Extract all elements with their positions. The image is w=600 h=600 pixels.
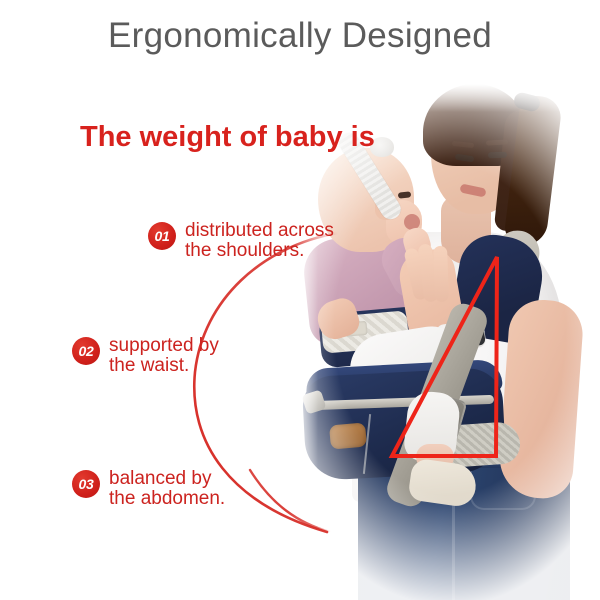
callout-01-text: distributed across the shoulders.: [185, 221, 334, 261]
mother-right-arm: [497, 298, 585, 501]
callout-03-number-badge: 03: [72, 470, 100, 498]
product-infographic-page: Ergonomically Designed The weight of bab…: [0, 0, 600, 600]
page-title: Ergonomically Designed: [0, 14, 600, 58]
product-photo: [0, 0, 600, 600]
callout-02-number-badge: 02: [72, 337, 100, 365]
callout-03-text: balanced by the abdomen.: [109, 469, 225, 509]
mother-eye-right: [488, 152, 507, 159]
mother-finger-3: [433, 246, 449, 302]
carrier-leather-logo-patch: [329, 422, 367, 449]
callout-02-text: supported by the waist.: [109, 336, 219, 376]
callout-01-number-badge: 01: [148, 222, 176, 250]
callout-01: 01 distributed across the shoulders.: [148, 222, 334, 261]
callout-03: 03 balanced by the abdomen.: [72, 470, 225, 509]
callout-02: 02 supported by the waist.: [72, 337, 219, 376]
page-subtitle: The weight of baby is: [80, 119, 375, 155]
